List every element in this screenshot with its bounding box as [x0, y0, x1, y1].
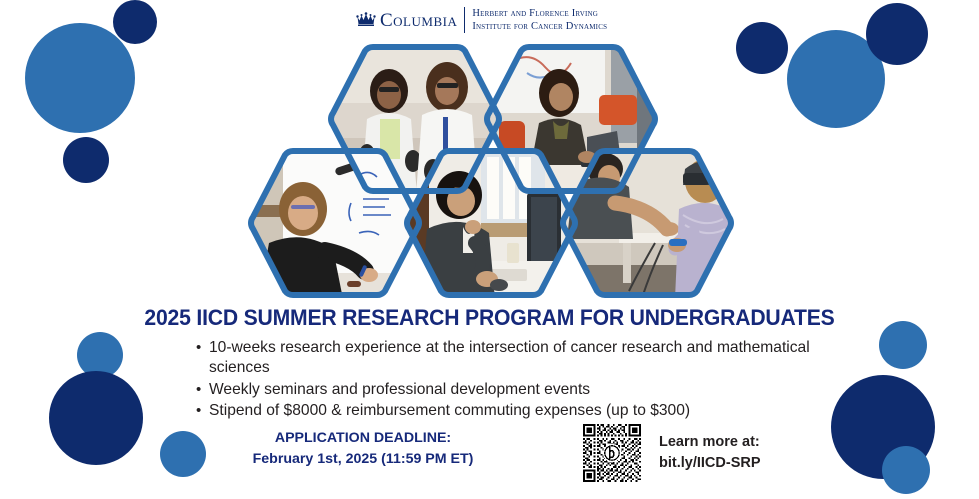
learn-more-url[interactable]: bit.ly/IICD-SRP	[659, 453, 761, 474]
photo-student-whiteboard	[247, 147, 423, 299]
bullet-marker-icon: •	[196, 380, 209, 400]
list-item-text: Weekly seminars and professional develop…	[209, 380, 816, 400]
photo-vr-experiment	[559, 147, 735, 299]
application-deadline: APPLICATION DEADLINE: February 1st, 2025…	[198, 428, 528, 469]
qr-code-icon[interactable]	[583, 424, 641, 482]
program-highlights-list: • 10-weeks research experience at the in…	[196, 338, 816, 422]
learn-more-block[interactable]: Learn more at: bit.ly/IICD-SRP	[583, 424, 761, 482]
deadline-value: February 1st, 2025 (11:59 PM ET)	[198, 449, 528, 470]
hexagon-photo-cluster	[0, 0, 979, 300]
poster-canvas: Columbia Herbert and Florence Irving Ins…	[0, 0, 979, 499]
learn-more-label: Learn more at:	[659, 432, 761, 453]
list-item: • Stipend of $8000 & reimbursement commu…	[196, 401, 816, 421]
page-title: 2025 IICD SUMMER RESEARCH PROGRAM FOR UN…	[29, 305, 949, 331]
list-item-text: 10-weeks research experience at the inte…	[209, 338, 816, 379]
circle-bottom-left-navy	[49, 371, 143, 465]
photo-student-computer	[403, 147, 579, 299]
bullet-marker-icon: •	[196, 338, 209, 358]
list-item-text: Stipend of $8000 & reimbursement commuti…	[209, 401, 816, 421]
bullet-marker-icon: •	[196, 401, 209, 421]
list-item: • Weekly seminars and professional devel…	[196, 380, 816, 400]
deadline-label: APPLICATION DEADLINE:	[198, 428, 528, 449]
circle-bottom-right-blue-low	[882, 446, 930, 494]
learn-more-text: Learn more at: bit.ly/IICD-SRP	[659, 432, 761, 473]
list-item: • 10-weeks research experience at the in…	[196, 338, 816, 379]
